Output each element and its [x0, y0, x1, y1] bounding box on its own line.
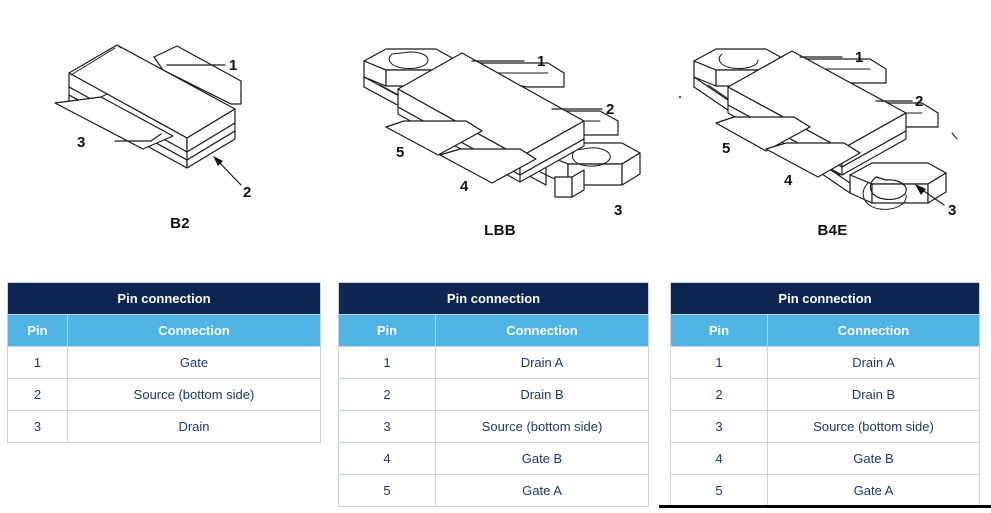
package-label-b2: B2 [55, 215, 305, 232]
package-figure-lbb: 1 2 5 4 3 LBB [350, 25, 650, 250]
table-row: 1 Drain A [671, 347, 980, 379]
callout-label: 3 [614, 202, 622, 219]
table-header-row: Pin Connection [339, 315, 649, 347]
table-row: 3 Drain [8, 411, 321, 443]
column-header-pin: Pin [671, 315, 768, 347]
table-row: 2 Source (bottom side) [8, 379, 321, 411]
cell-connection: Gate [68, 347, 321, 379]
table-row: 2 Drain B [671, 379, 980, 411]
cell-connection: Drain B [436, 379, 649, 411]
column-header-pin: Pin [339, 315, 436, 347]
callout-label: 5 [722, 140, 730, 157]
pin-connection-table-lbb: Pin connection Pin Connection 1 Drain A … [338, 282, 649, 507]
table-row: 2 Drain B [339, 379, 649, 411]
table-title-row: Pin connection [339, 283, 649, 315]
package-label-lbb: LBB [350, 222, 650, 239]
cell-pin: 3 [671, 411, 768, 443]
cell-pin: 1 [8, 347, 68, 379]
column-header-connection: Connection [768, 315, 980, 347]
package-label-b4e: B4E [680, 222, 985, 239]
table-row: 5 Gate A [339, 475, 649, 507]
table-title: Pin connection [671, 283, 980, 315]
cell-connection: Source (bottom side) [68, 379, 321, 411]
package-figure-b2: 1 3 2 B2 [55, 25, 305, 250]
callout-label: 2 [915, 93, 923, 110]
column-header-connection: Connection [436, 315, 649, 347]
b2-drawing: 1 3 2 [55, 25, 305, 225]
pin-connection-table-b4e: Pin connection Pin Connection 1 Drain A … [670, 282, 980, 507]
cell-connection: Gate B [436, 443, 649, 475]
cell-connection: Gate B [768, 443, 980, 475]
cell-connection: Drain B [768, 379, 980, 411]
cell-pin: 2 [339, 379, 436, 411]
cell-connection: Source (bottom side) [436, 411, 649, 443]
table-row: 1 Drain A [339, 347, 649, 379]
cell-connection: Drain A [436, 347, 649, 379]
table-row: 5 Gate A [671, 475, 980, 507]
callout-label: 1 [537, 53, 545, 70]
table-header-row: Pin Connection [8, 315, 321, 347]
package-figure-b4e: 1 2 5 4 3 B4E [680, 25, 985, 250]
table-title-row: Pin connection [8, 283, 321, 315]
bottom-rule [659, 505, 991, 508]
column-header-connection: Connection [68, 315, 321, 347]
callout-label: 2 [606, 101, 614, 118]
table-header-row: Pin Connection [671, 315, 980, 347]
callout-label: 3 [948, 202, 956, 219]
cell-connection: Drain A [768, 347, 980, 379]
cell-pin: 1 [671, 347, 768, 379]
cell-connection: Drain [68, 411, 321, 443]
lbb-drawing: 1 2 5 4 3 [350, 25, 650, 230]
cell-connection: Source (bottom side) [768, 411, 980, 443]
cell-pin: 4 [671, 443, 768, 475]
callout-label: 4 [460, 178, 469, 195]
table-row: 4 Gate B [671, 443, 980, 475]
pin-connection-table-b2: Pin connection Pin Connection 1 Gate 2 S… [7, 282, 321, 443]
table-title: Pin connection [8, 283, 321, 315]
cell-pin: 5 [339, 475, 436, 507]
cell-connection: Gate A [768, 475, 980, 507]
column-header-pin: Pin [8, 315, 68, 347]
table-row: 4 Gate B [339, 443, 649, 475]
cell-pin: 5 [671, 475, 768, 507]
callout-label: 4 [784, 172, 793, 189]
callout-label: 1 [855, 49, 863, 66]
table-row: 3 Source (bottom side) [339, 411, 649, 443]
cell-pin: 3 [339, 411, 436, 443]
cell-pin: 1 [339, 347, 436, 379]
cell-pin: 3 [8, 411, 68, 443]
cell-pin: 2 [8, 379, 68, 411]
table-title-row: Pin connection [671, 283, 980, 315]
b4e-drawing: 1 2 5 4 3 [680, 25, 985, 230]
table-title: Pin connection [339, 283, 649, 315]
callout-label: 3 [77, 134, 85, 151]
table-row: 1 Gate [8, 347, 321, 379]
callout-label: 2 [243, 184, 251, 201]
cell-pin: 4 [339, 443, 436, 475]
cell-pin: 2 [671, 379, 768, 411]
callout-label: 5 [396, 144, 404, 161]
cell-connection: Gate A [436, 475, 649, 507]
callout-label: 1 [229, 57, 237, 74]
table-row: 3 Source (bottom side) [671, 411, 980, 443]
